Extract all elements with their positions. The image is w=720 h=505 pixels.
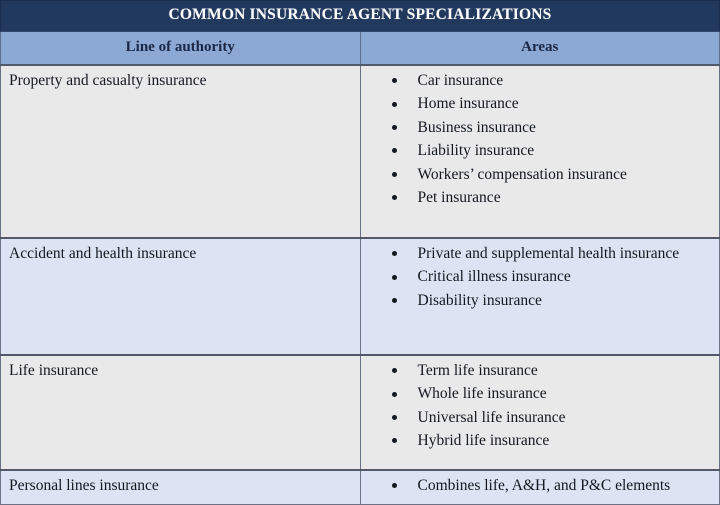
- list-item-label: Critical illness insurance: [418, 268, 571, 285]
- areas-list: Combines life, A&H, and P&C elements: [361, 475, 714, 497]
- table-row: Life insurance Term life insurance Whole…: [1, 355, 720, 470]
- list-item-label: Private and supplemental health insuranc…: [418, 245, 680, 262]
- list-item-label: Universal life insurance: [418, 409, 566, 426]
- bullet-icon: [392, 298, 397, 303]
- list-item-label: Car insurance: [418, 72, 504, 89]
- insurance-specializations-table: COMMON INSURANCE AGENT SPECIALIZATIONS L…: [0, 0, 720, 505]
- list-item: Workers’ compensation insurance: [383, 164, 714, 186]
- table-title-row: COMMON INSURANCE AGENT SPECIALIZATIONS: [1, 1, 720, 32]
- list-item-label: Hybrid life insurance: [418, 432, 550, 449]
- column-header-areas: Areas: [360, 32, 720, 66]
- list-item-label: Combines life, A&H, and P&C elements: [418, 477, 671, 494]
- table-header-row: Line of authority Areas: [1, 32, 720, 66]
- list-item: Business insurance: [383, 117, 714, 139]
- cell-areas: Term life insurance Whole life insurance…: [360, 355, 720, 470]
- cell-line-of-authority: Accident and health insurance: [1, 238, 361, 355]
- list-item-label: Whole life insurance: [418, 385, 547, 402]
- list-item: Private and supplemental health insuranc…: [383, 243, 714, 265]
- list-item: Term life insurance: [383, 360, 714, 382]
- bullet-icon: [392, 172, 397, 177]
- table-row: Property and casualty insurance Car insu…: [1, 65, 720, 238]
- list-item-label: Liability insurance: [418, 142, 535, 159]
- cell-line-of-authority: Life insurance: [1, 355, 361, 470]
- list-item-label: Term life insurance: [418, 362, 538, 379]
- table-row: Personal lines insurance Combines life, …: [1, 470, 720, 505]
- bullet-icon: [392, 251, 397, 256]
- areas-list: Term life insurance Whole life insurance…: [361, 360, 714, 453]
- bullet-icon: [392, 483, 397, 488]
- list-item: Liability insurance: [383, 140, 714, 162]
- bullet-icon: [392, 125, 397, 130]
- list-item-label: Disability insurance: [418, 292, 542, 309]
- bullet-icon: [392, 195, 397, 200]
- bullet-icon: [392, 102, 397, 107]
- list-item: Hybrid life insurance: [383, 430, 714, 452]
- column-header-line-of-authority: Line of authority: [1, 32, 361, 66]
- list-item: Critical illness insurance: [383, 266, 714, 288]
- list-item-label: Pet insurance: [418, 189, 501, 206]
- bullet-icon: [392, 368, 397, 373]
- list-item: Pet insurance: [383, 187, 714, 209]
- bullet-icon: [392, 275, 397, 280]
- bullet-icon: [392, 78, 397, 83]
- bullet-icon: [392, 415, 397, 420]
- bullet-icon: [392, 438, 397, 443]
- areas-list: Car insurance Home insurance Business in…: [361, 70, 714, 210]
- list-item: Universal life insurance: [383, 407, 714, 429]
- cell-areas: Combines life, A&H, and P&C elements: [360, 470, 720, 505]
- list-item-label: Workers’ compensation insurance: [418, 166, 627, 183]
- list-item-label: Home insurance: [418, 95, 519, 112]
- insurance-specializations-table-container: COMMON INSURANCE AGENT SPECIALIZATIONS L…: [0, 0, 720, 477]
- list-item: Car insurance: [383, 70, 714, 92]
- table-title: COMMON INSURANCE AGENT SPECIALIZATIONS: [1, 1, 720, 32]
- cell-areas: Private and supplemental health insuranc…: [360, 238, 720, 355]
- list-item: Combines life, A&H, and P&C elements: [383, 475, 714, 497]
- list-item-label: Business insurance: [418, 119, 536, 136]
- list-item: Whole life insurance: [383, 383, 714, 405]
- bullet-icon: [392, 392, 397, 397]
- cell-areas: Car insurance Home insurance Business in…: [360, 65, 720, 238]
- bullet-icon: [392, 148, 397, 153]
- cell-line-of-authority: Property and casualty insurance: [1, 65, 361, 238]
- table-row: Accident and health insurance Private an…: [1, 238, 720, 355]
- areas-list: Private and supplemental health insuranc…: [361, 243, 714, 312]
- list-item: Disability insurance: [383, 290, 714, 312]
- cell-line-of-authority: Personal lines insurance: [1, 470, 361, 505]
- list-item: Home insurance: [383, 93, 714, 115]
